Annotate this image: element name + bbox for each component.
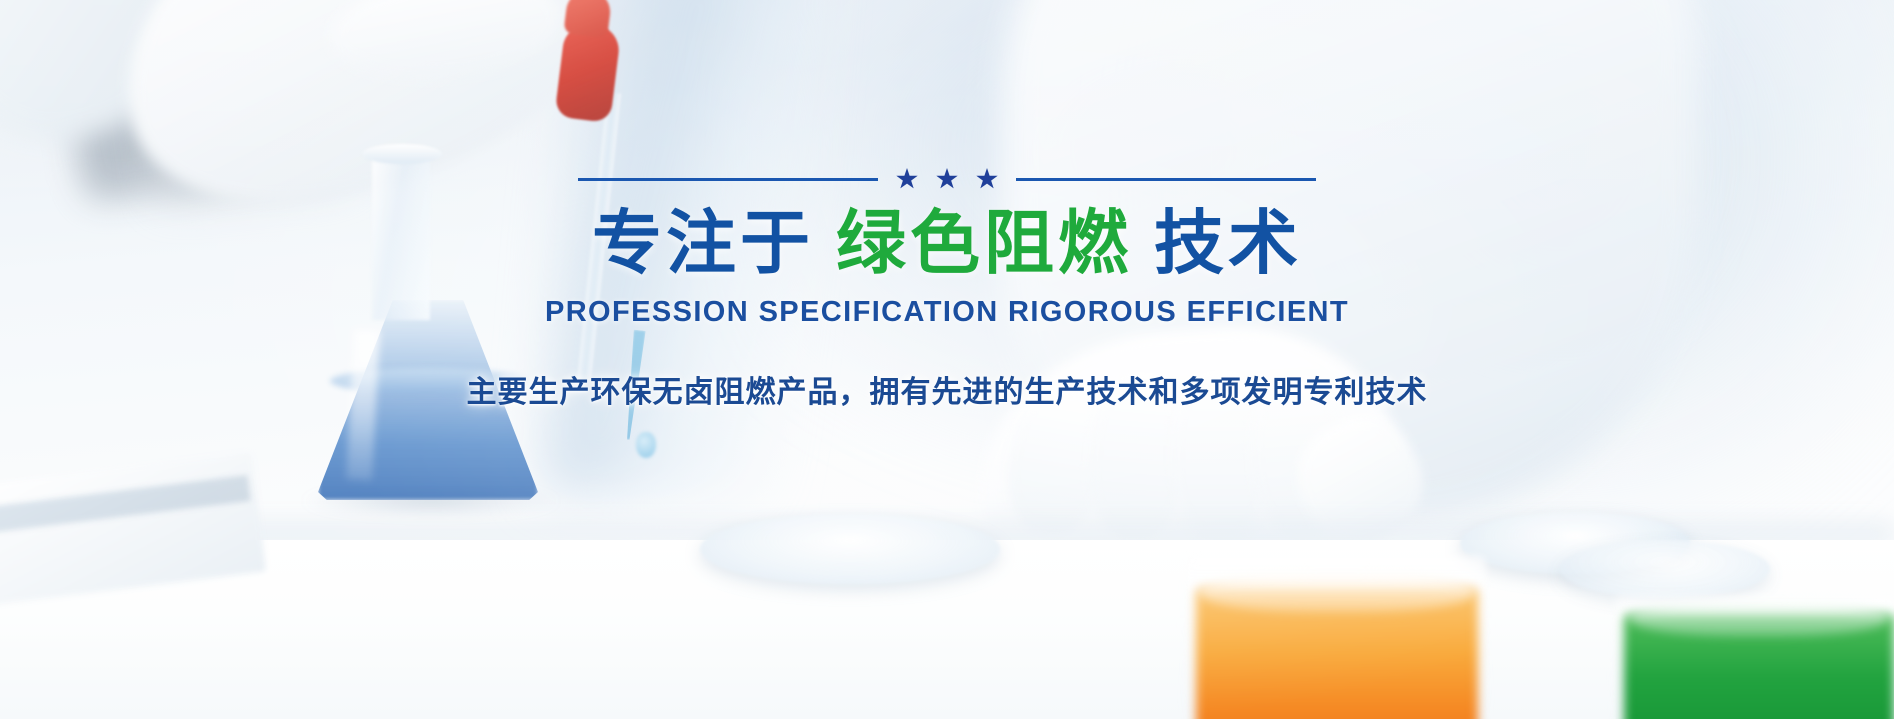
banner-content: 专注于绿色阻燃技术 PROFESSION SPECIFICATION RIGOR… <box>0 0 1894 719</box>
page-title: 专注于绿色阻燃技术 <box>592 204 1302 282</box>
headline-part-3: 技术 <box>1154 204 1302 282</box>
divider-rule-left <box>578 178 878 181</box>
star-icon <box>896 168 918 190</box>
divider <box>547 168 1347 190</box>
star-icon-2 <box>936 168 958 190</box>
hero-banner: 专注于绿色阻燃技术 PROFESSION SPECIFICATION RIGOR… <box>0 0 1894 719</box>
divider-rule-right <box>1016 178 1316 181</box>
star-icon-3 <box>976 168 998 190</box>
star-group <box>896 168 998 190</box>
headline-part-1: 专注于 <box>592 204 814 282</box>
subtitle-english: PROFESSION SPECIFICATION RIGOROUS EFFICI… <box>545 296 1349 329</box>
description-chinese: 主要生产环保无卤阻燃产品，拥有先进的生产技术和多项发明专利技术 <box>467 367 1428 411</box>
headline-part-2: 绿色阻燃 <box>836 204 1132 282</box>
